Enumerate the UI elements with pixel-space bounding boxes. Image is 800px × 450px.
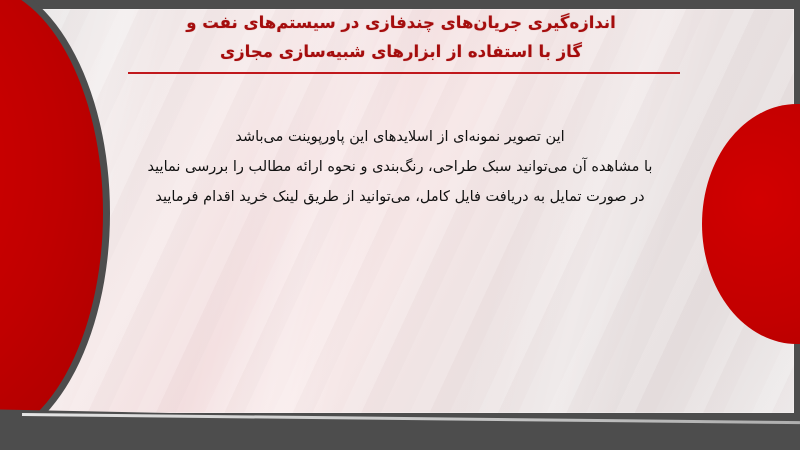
presentation-slide: اندازه‌گیری جریان‌های چندفازی در سیستم‌ه… <box>0 0 800 450</box>
slide-body-line-1: این تصویر نمونه‌ای از اسلایدهای این پاور… <box>120 122 680 152</box>
slide-title-line-2: گاز با استفاده از ابزارهای شبیه‌سازی مجا… <box>120 37 682 66</box>
slide-title-line-1: اندازه‌گیری جریان‌های چندفازی در سیستم‌ه… <box>120 8 682 37</box>
slide-body-line-3: در صورت تمایل به دریافت فایل کامل، می‌تو… <box>120 182 680 212</box>
title-underline-rule <box>128 72 680 74</box>
slide-body-line-2: با مشاهده آن می‌توانید سبک طراحی، رنگ‌بن… <box>120 152 680 182</box>
slide-body-text: این تصویر نمونه‌ای از اسلایدهای این پاور… <box>120 122 680 212</box>
slide-title: اندازه‌گیری جریان‌های چندفازی در سیستم‌ه… <box>120 8 682 66</box>
